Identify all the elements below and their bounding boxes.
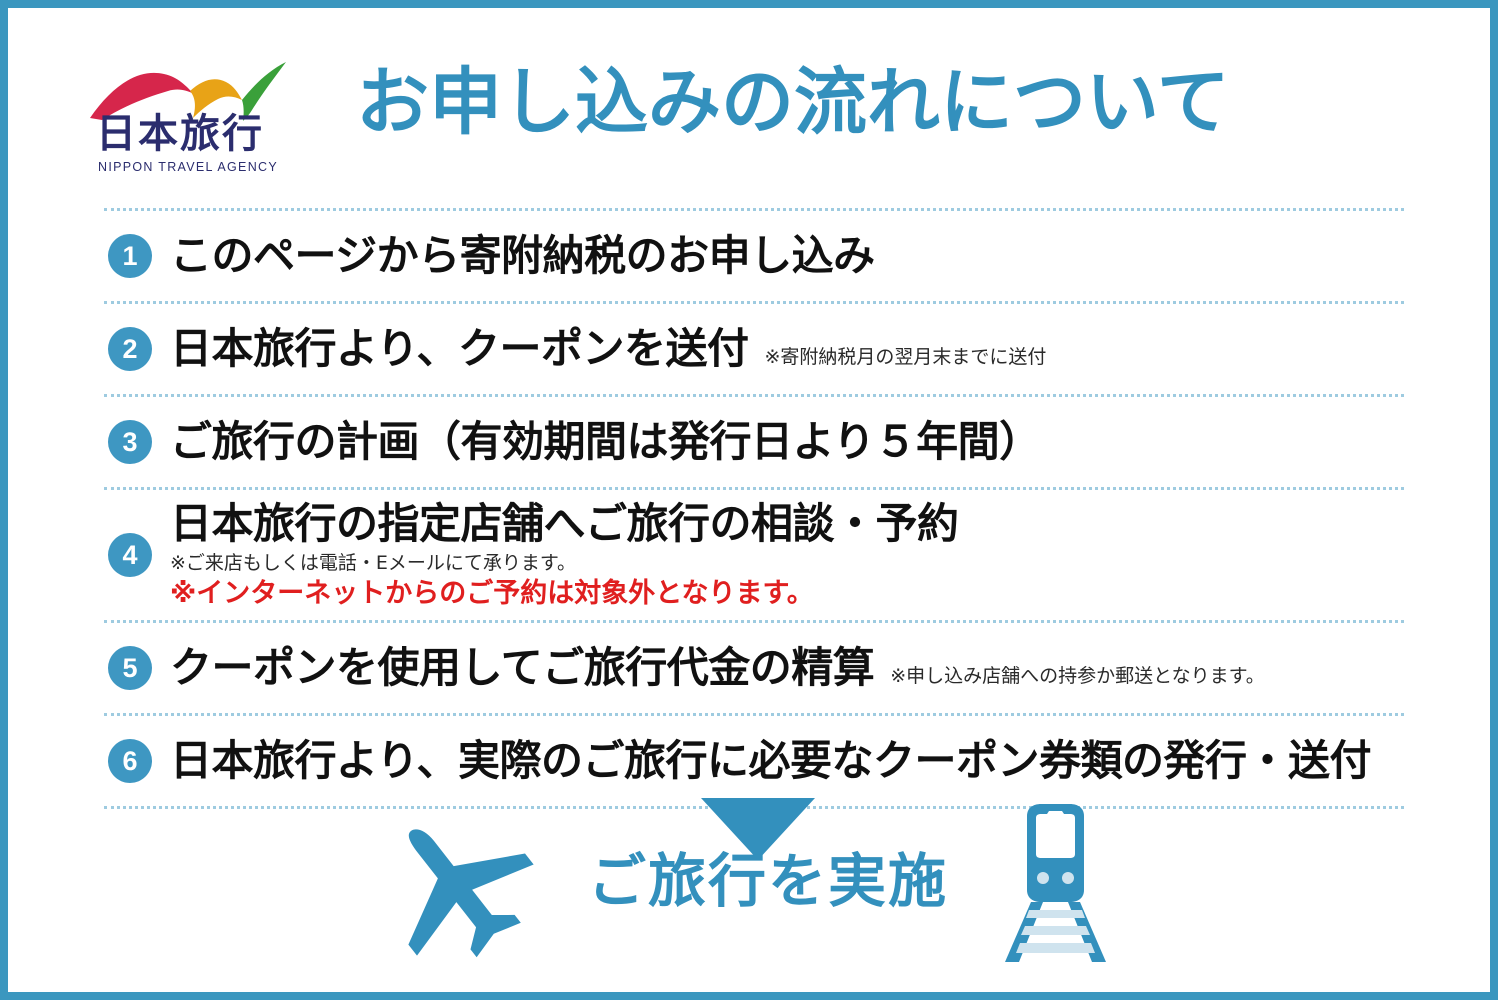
step-label: 日本旅行より、クーポンを送付 <box>170 325 748 372</box>
step-item: 3 ご旅行の計画（有効期間は発行日より５年間） <box>104 397 1404 487</box>
step-number-badge: 5 <box>108 646 152 690</box>
step-content: 日本旅行より、実際のご旅行に必要なクーポン券類の発行・送付 <box>170 737 1404 784</box>
step-label: ご旅行の計画（有効期間は発行日より５年間） <box>170 418 1041 465</box>
train-icon <box>1003 802 1108 967</box>
step-main-line: 日本旅行より、実際のご旅行に必要なクーポン券類の発行・送付 <box>170 737 1404 784</box>
step-item: 2 日本旅行より、クーポンを送付 ※寄附納税月の翌月末までに送付 <box>104 304 1404 394</box>
step-label: このページから寄附納税のお申し込み <box>170 232 875 279</box>
step-content: ご旅行の計画（有効期間は発行日より５年間） <box>170 418 1404 465</box>
step-label: クーポンを使用してご旅行代金の精算 <box>170 644 874 691</box>
step-content: 日本旅行の指定店舗へご旅行の相談・予約 ※ご来店もしくは電話・Eメールにて承りま… <box>170 500 1404 610</box>
nippon-travel-agency-logo: 日本旅行 NIPPON TRAVEL AGENCY <box>86 56 301 176</box>
step-label: 日本旅行より、実際のご旅行に必要なクーポン券類の発行・送付 <box>170 737 1371 784</box>
step-main-line: 日本旅行の指定店舗へご旅行の相談・予約 <box>170 500 1404 547</box>
logo-english-text: NIPPON TRAVEL AGENCY <box>98 160 278 174</box>
step-number-badge: 2 <box>108 327 152 371</box>
step-number-badge: 1 <box>108 234 152 278</box>
step-item: 4 日本旅行の指定店舗へご旅行の相談・予約 ※ご来店もしくは電話・Eメールにて承… <box>104 490 1404 620</box>
step-number-badge: 4 <box>108 533 152 577</box>
step-content: 日本旅行より、クーポンを送付 ※寄附納税月の翌月末までに送付 <box>170 325 1404 372</box>
step-warning-note: ※インターネットからのご予約は対象外となります。 <box>170 578 1404 610</box>
step-content: このページから寄附納税のお申し込み <box>170 232 1404 279</box>
header: 日本旅行 NIPPON TRAVEL AGENCY お申し込みの流れについて <box>8 8 1490 198</box>
poster-canvas: 日本旅行 NIPPON TRAVEL AGENCY お申し込みの流れについて 1… <box>8 8 1490 992</box>
step-main-line: 日本旅行より、クーポンを送付 ※寄附納税月の翌月末までに送付 <box>170 325 1404 372</box>
step-sub-note: ※ご来店もしくは電話・Eメールにて承ります。 <box>170 551 1404 576</box>
footer-label: ご旅行を実施 <box>588 852 948 910</box>
step-item: 1 このページから寄附納税のお申し込み <box>104 211 1404 301</box>
step-main-line: クーポンを使用してご旅行代金の精算 ※申し込み店舗への持参か郵送となります。 <box>170 644 1404 691</box>
poster-frame: 日本旅行 NIPPON TRAVEL AGENCY お申し込みの流れについて 1… <box>0 0 1498 1000</box>
footer: ご旅行を実施 <box>8 792 1490 982</box>
step-note: ※申し込み店舗への持参か郵送となります。 <box>890 661 1264 688</box>
page-title: お申し込みの流れについて <box>356 64 1230 143</box>
step-content: クーポンを使用してご旅行代金の精算 ※申し込み店舗への持参か郵送となります。 <box>170 644 1404 691</box>
step-number-badge: 3 <box>108 420 152 464</box>
step-label: 日本旅行の指定店舗へご旅行の相談・予約 <box>170 500 959 547</box>
step-number-badge: 6 <box>108 739 152 783</box>
logo-kanji-text: 日本旅行 <box>96 114 291 154</box>
airplane-icon <box>380 804 540 964</box>
step-main-line: このページから寄附納税のお申し込み <box>170 232 1404 279</box>
step-item: 5 クーポンを使用してご旅行代金の精算 ※申し込み店舗への持参か郵送となります。 <box>104 623 1404 713</box>
step-main-line: ご旅行の計画（有効期間は発行日より５年間） <box>170 418 1404 465</box>
step-note: ※寄附納税月の翌月末までに送付 <box>764 342 1046 369</box>
steps-list: 1 このページから寄附納税のお申し込み 2 日本旅行より、クーポンを送付 ※寄附… <box>104 208 1404 809</box>
